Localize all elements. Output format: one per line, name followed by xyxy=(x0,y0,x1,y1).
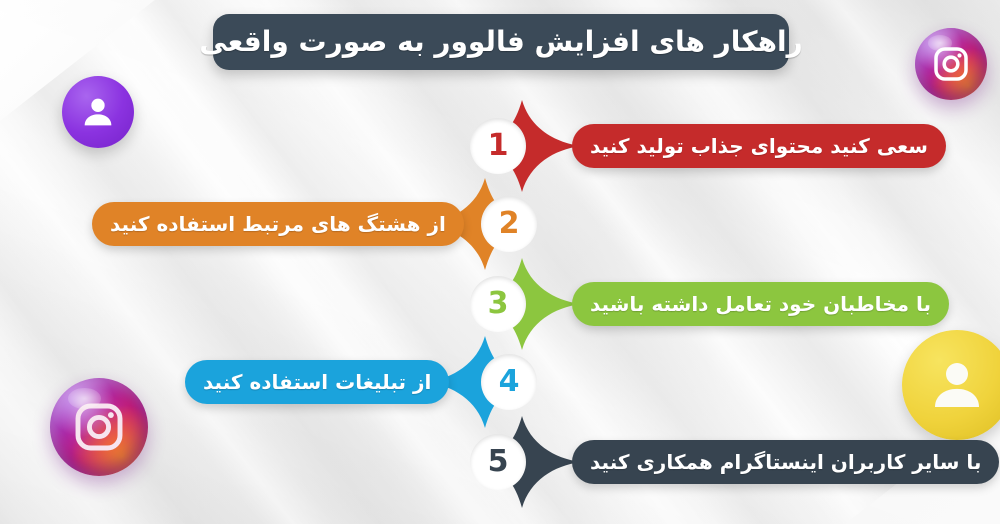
step-number: 1 xyxy=(488,131,509,161)
instagram-ball-top-right xyxy=(915,28,987,100)
step-label-pill: سعی کنید محتوای جذاب تولید کنید xyxy=(572,124,946,168)
user-icon xyxy=(78,92,118,132)
step-label: از هشتگ های مرتبط استفاده کنید xyxy=(110,214,446,234)
step-label-pill: از تبلیغات استفاده کنید xyxy=(185,360,449,404)
step-label: سعی کنید محتوای جذاب تولید کنید xyxy=(590,136,928,156)
step-number: 3 xyxy=(488,289,509,319)
page-title-text: راهکار های افزایش فالوور به صورت واقعی xyxy=(199,28,802,56)
step-label-pill: از هشتگ های مرتبط استفاده کنید xyxy=(92,202,464,246)
instagram-ball-bottom-left xyxy=(50,378,148,476)
step-number: 5 xyxy=(488,447,509,477)
step-number: 4 xyxy=(499,367,520,397)
infographic-canvas: راهکار های افزایش فالوور به صورت واقعی xyxy=(0,0,1000,524)
user-icon xyxy=(924,352,990,418)
user-avatar-purple xyxy=(62,76,134,148)
step-number-circle: 1 xyxy=(470,118,526,174)
step-number-circle: 2 xyxy=(481,196,537,252)
step-label: با مخاطبان خود تعامل داشته باشید xyxy=(590,294,931,314)
step-label-pill: با مخاطبان خود تعامل داشته باشید xyxy=(572,282,949,326)
instagram-icon xyxy=(931,44,971,84)
step-number-circle: 4 xyxy=(481,354,537,410)
step-badge: 5 xyxy=(462,414,582,510)
step-label-pill: با سایر کاربران اینستاگرام همکاری کنید xyxy=(572,440,999,484)
step-label: از تبلیغات استفاده کنید xyxy=(203,372,431,392)
instagram-icon xyxy=(71,399,127,455)
step-label: با سایر کاربران اینستاگرام همکاری کنید xyxy=(590,452,981,472)
step-number-circle: 5 xyxy=(470,434,526,490)
step-number-circle: 3 xyxy=(470,276,526,332)
step-number: 2 xyxy=(499,209,520,239)
page-title: راهکار های افزایش فالوور به صورت واقعی xyxy=(213,14,789,70)
step-item: 5 با سایر کاربران اینستاگرام همکاری کنید xyxy=(462,414,932,510)
